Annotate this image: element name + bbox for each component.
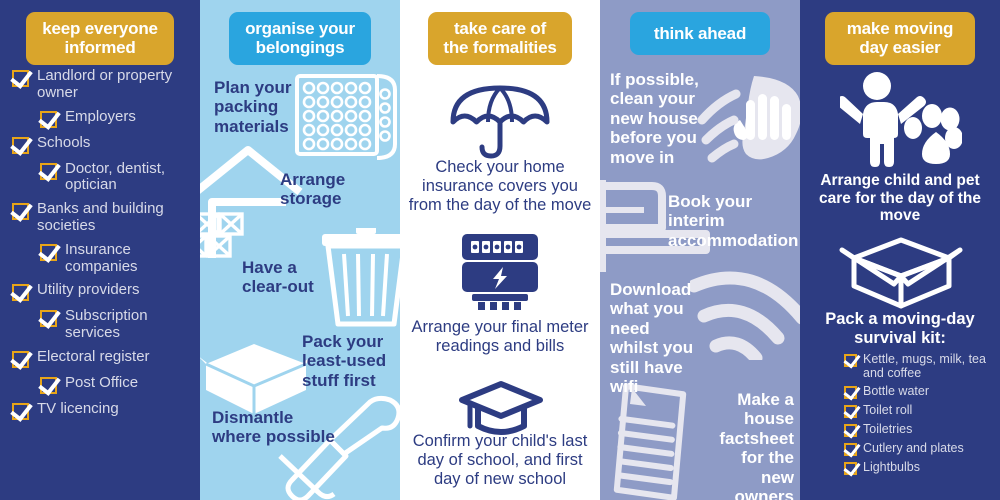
list-item-label: Bottle water (863, 384, 929, 398)
checkbox-icon (12, 351, 29, 368)
checkbox-icon (12, 70, 29, 87)
list-item-label: Post Office (65, 375, 138, 392)
caption-pack-survival-kit: Pack a moving-day survival kit: (806, 310, 994, 348)
caption-have-a-clear-out: Have a clear-out (242, 258, 328, 297)
list-item[interactable]: Post Office (12, 375, 192, 394)
checkbox-icon (40, 111, 57, 128)
checkbox-icon (12, 403, 29, 420)
list-item-label: Employers (65, 109, 136, 126)
electricity-meter-icon (458, 232, 542, 310)
list-item[interactable]: Utility providers (12, 282, 192, 301)
infographic-root: keep everyone informed Landlord or prope… (0, 0, 1000, 500)
checkbox-icon (844, 424, 857, 437)
cleaning-hand-icon (696, 70, 800, 180)
document-icon (608, 382, 708, 500)
checkbox-icon (40, 310, 57, 327)
checkbox-icon (40, 244, 57, 261)
panel-think-ahead: think ahead If possible, clean your ne (600, 0, 800, 500)
list-item[interactable]: Banks and building societies (12, 201, 192, 235)
caption-pack-your-least-used-stuff-first: Pack your least-used stuff first (302, 332, 394, 390)
child-and-paw-icon (840, 72, 962, 168)
panel-heading-organise-your-belongings: organise your belongings (229, 12, 371, 65)
list-item[interactable]: Schools (12, 135, 192, 154)
wifi-icon (690, 250, 800, 360)
list-item-label: Subscription services (65, 308, 192, 342)
list-item-label: Toiletries (863, 422, 912, 436)
checkbox-icon (844, 462, 857, 475)
caption-arrange-child-and-pet-care: Arrange child and pet care for the day o… (806, 172, 994, 225)
checklist-survival-kit: Kettle, mugs, milk, tea and coffee Bottl… (844, 352, 1000, 479)
caption-dismantle-where-possible: Dismantle where possible (212, 408, 342, 447)
panel-organise-your-belongings: organise your belongings Plan your packi… (200, 0, 400, 500)
panel-make-moving-day-easier: make moving day easier Arrange child (800, 0, 1000, 500)
checkbox-icon (844, 354, 857, 367)
list-item[interactable]: Kettle, mugs, milk, tea and coffee (844, 352, 1000, 380)
list-item[interactable]: Lightbulbs (844, 460, 1000, 475)
list-item-label: Insurance companies (65, 242, 192, 276)
open-box-icon (836, 232, 966, 314)
caption-download-what-you-need: Download what you need whilst you still … (610, 280, 696, 396)
panel-heading-take-care-of-the-formalities: take care of the formalities (428, 12, 572, 65)
checkbox-icon (40, 163, 57, 180)
list-item-label: Utility providers (37, 282, 140, 299)
list-item-label: TV licencing (37, 401, 119, 418)
checkbox-icon (12, 284, 29, 301)
checklist-inform: Landlord or property owner Employers Sch… (12, 68, 192, 427)
list-item[interactable]: Insurance companies (12, 242, 192, 276)
caption-plan-your-packing-materials: Plan your packing materials (214, 78, 302, 136)
checkbox-icon (844, 443, 857, 456)
list-item-label: Toilet roll (863, 403, 912, 417)
list-item[interactable]: Landlord or property owner (12, 68, 192, 102)
bin-icon (320, 228, 400, 328)
panel-keep-everyone-informed: keep everyone informed Landlord or prope… (0, 0, 200, 500)
list-item-label: Doctor, dentist, optician (65, 161, 192, 195)
checkbox-icon (40, 377, 57, 394)
panel-heading-make-moving-day-easier: make moving day easier (825, 12, 975, 65)
panel-heading-keep-everyone-informed: keep everyone informed (26, 12, 174, 65)
checkbox-icon (844, 405, 857, 418)
list-item[interactable]: Doctor, dentist, optician (12, 161, 192, 195)
list-item[interactable]: Subscription services (12, 308, 192, 342)
caption-book-your-interim-accommodation: Book your interim accommodation (668, 192, 796, 250)
caption-clean-your-new-house: If possible, clean your new house before… (610, 70, 700, 167)
list-item-label: Banks and building societies (37, 201, 192, 235)
umbrella-icon (448, 82, 552, 160)
list-item-label: Electoral register (37, 349, 150, 366)
list-item[interactable]: Cutlery and plates (844, 441, 1000, 456)
list-item[interactable]: Electoral register (12, 349, 192, 368)
list-item-label: Schools (37, 135, 90, 152)
list-item[interactable]: Bottle water (844, 384, 1000, 399)
panel-heading-think-ahead: think ahead (630, 12, 770, 55)
checkbox-icon (12, 137, 29, 154)
list-item-label: Lightbulbs (863, 460, 920, 474)
panel-take-care-of-the-formalities: take care of the formalities Check your … (400, 0, 600, 500)
caption-make-a-house-factsheet: Make a house factsheet for the new owner… (708, 390, 794, 500)
list-item-label: Cutlery and plates (863, 441, 964, 455)
list-item[interactable]: Toiletries (844, 422, 1000, 437)
list-item-label: Landlord or property owner (37, 68, 192, 102)
list-item[interactable]: TV licencing (12, 401, 192, 420)
caption-arrange-final-meter-readings: Arrange your final meter readings and bi… (408, 318, 592, 356)
list-item[interactable]: Employers (12, 109, 192, 128)
caption-confirm-school-dates: Confirm your child's last day of school,… (408, 432, 592, 488)
list-item-label: Kettle, mugs, milk, tea and coffee (863, 352, 1000, 380)
list-item[interactable]: Toilet roll (844, 403, 1000, 418)
bubble-wrap-icon (295, 72, 399, 162)
caption-arrange-storage: Arrange storage (280, 170, 370, 209)
checkbox-icon (844, 386, 857, 399)
checkbox-icon (12, 203, 29, 220)
caption-check-your-home-insurance: Check your home insurance covers you fro… (408, 158, 592, 214)
